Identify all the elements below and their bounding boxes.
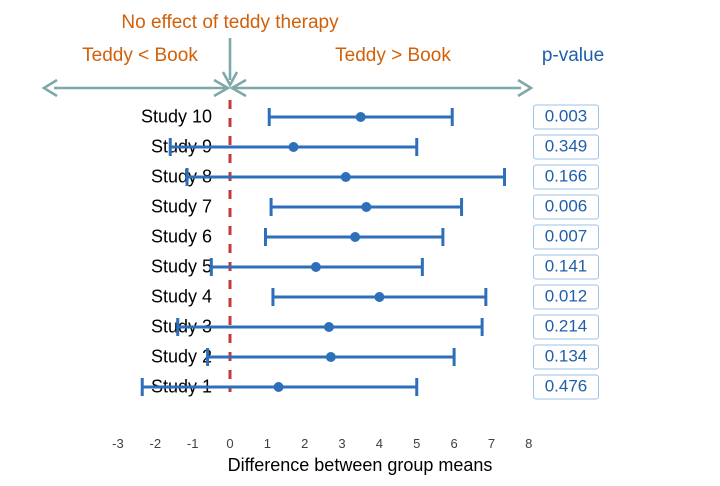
x-tick-label: 1 bbox=[252, 436, 282, 451]
study-interval-row bbox=[187, 168, 504, 186]
pvalue-box: 0.141 bbox=[533, 255, 599, 280]
x-tick-label: 8 bbox=[514, 436, 544, 451]
x-tick-label: 7 bbox=[476, 436, 506, 451]
x-tick-label: 5 bbox=[402, 436, 432, 451]
pvalue-box: 0.007 bbox=[533, 225, 599, 250]
forest-plot: No effect of teddy therapy Teddy < Book … bbox=[0, 0, 720, 486]
pvalue-box: 0.012 bbox=[533, 285, 599, 310]
x-tick-label: -3 bbox=[103, 436, 133, 451]
no-effect-pointer-head bbox=[223, 72, 237, 85]
pvalue-box: 0.003 bbox=[533, 105, 599, 130]
study-label: Study 3 bbox=[0, 317, 212, 338]
study-interval-row bbox=[273, 288, 486, 306]
study-interval-row bbox=[265, 228, 442, 246]
center-arrow-head-right bbox=[232, 80, 246, 96]
x-tick-label: 6 bbox=[439, 436, 469, 451]
pvalue-column-header: p-value bbox=[518, 45, 628, 67]
study-interval-row bbox=[269, 108, 452, 126]
study-label: Study 7 bbox=[0, 197, 212, 218]
left-arrow-head bbox=[44, 80, 57, 96]
no-effect-title: No effect of teddy therapy bbox=[0, 12, 460, 34]
study-label: Study 2 bbox=[0, 347, 212, 368]
x-tick-label: 2 bbox=[290, 436, 320, 451]
effect-estimate-point bbox=[326, 352, 336, 362]
pvalue-box: 0.214 bbox=[533, 315, 599, 340]
effect-estimate-point bbox=[350, 232, 360, 242]
study-label: Study 4 bbox=[0, 287, 212, 308]
study-label: Study 6 bbox=[0, 227, 212, 248]
study-interval-row bbox=[208, 348, 455, 366]
effect-estimate-point bbox=[311, 262, 321, 272]
pvalue-box: 0.349 bbox=[533, 135, 599, 160]
study-interval-row bbox=[211, 258, 422, 276]
study-interval-row bbox=[178, 318, 482, 336]
study-label: Study 8 bbox=[0, 167, 212, 188]
left-direction-label: Teddy < Book bbox=[20, 45, 260, 67]
effect-estimate-point bbox=[361, 202, 371, 212]
right-arrow-head bbox=[518, 80, 531, 96]
x-tick-label: -2 bbox=[140, 436, 170, 451]
center-arrow-head-left bbox=[214, 80, 228, 96]
study-label: Study 5 bbox=[0, 257, 212, 278]
effect-estimate-point bbox=[324, 322, 334, 332]
study-interval-row bbox=[271, 198, 461, 216]
x-axis-title: Difference between group means bbox=[0, 455, 720, 476]
effect-estimate-point bbox=[341, 172, 351, 182]
pvalue-box: 0.476 bbox=[533, 375, 599, 400]
x-tick-label: 4 bbox=[364, 436, 394, 451]
x-tick-label: 0 bbox=[215, 436, 245, 451]
effect-estimate-point bbox=[274, 382, 284, 392]
study-label: Study 1 bbox=[0, 377, 212, 398]
right-direction-label: Teddy > Book bbox=[258, 45, 528, 67]
x-tick-label: 3 bbox=[327, 436, 357, 451]
study-label: Study 9 bbox=[0, 137, 212, 158]
pvalue-box: 0.134 bbox=[533, 345, 599, 370]
x-tick-label: -1 bbox=[178, 436, 208, 451]
study-label: Study 10 bbox=[0, 107, 212, 128]
effect-estimate-point bbox=[288, 142, 298, 152]
effect-estimate-point bbox=[374, 292, 384, 302]
pvalue-box: 0.166 bbox=[533, 165, 599, 190]
pvalue-box: 0.006 bbox=[533, 195, 599, 220]
effect-estimate-point bbox=[356, 112, 366, 122]
